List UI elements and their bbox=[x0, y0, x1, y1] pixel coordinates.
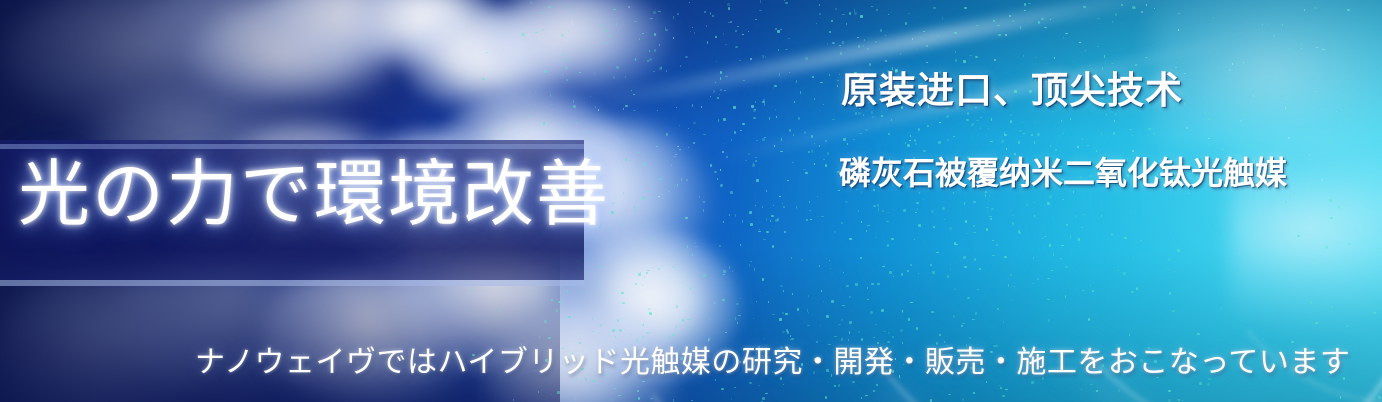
hero-banner: 光の力で環境改善 原装进口、顶尖技术 磷灰石被覆纳米二氧化钛光触媒 ナノウェイヴ… bbox=[0, 0, 1382, 402]
headline-japanese: 光の力で環境改善 bbox=[18, 158, 610, 230]
background-glow-upper-right bbox=[760, 0, 1382, 402]
subhead-chinese-line2: 磷灰石被覆纳米二氧化钛光触媒 bbox=[839, 157, 1287, 189]
subhead-chinese-line1: 原装进口、顶尖技术 bbox=[841, 72, 1183, 109]
tagline-japanese: ナノウェイヴではハイブリッド光触媒の研究・開発・販売・施工をおこなっています bbox=[195, 348, 1350, 378]
